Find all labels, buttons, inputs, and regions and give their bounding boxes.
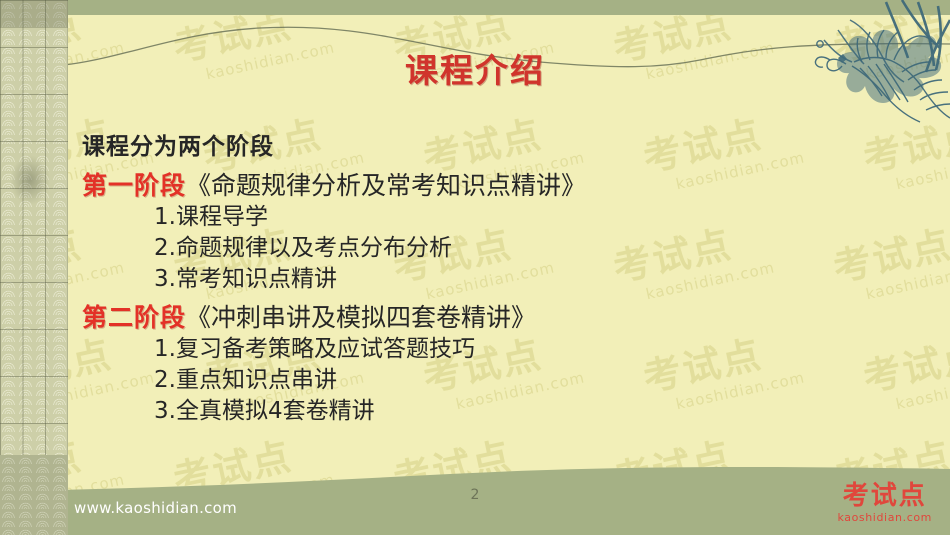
page-title: 课程介绍: [0, 44, 950, 92]
body-content: 课程分为两个阶段 第一阶段《命题规律分析及常考知识点精讲》 1.课程导学 2.命…: [82, 136, 882, 431]
kaoshidian-logo: 考试点 kaoshidian.com: [837, 483, 932, 523]
stage-1-title: 《命题规律分析及常考知识点精讲》: [186, 171, 586, 200]
stage-2-line: 第二阶段《冲刺串讲及模拟四套卷精讲》: [82, 305, 882, 330]
stage-1-item-3: 3.常考知识点精讲: [154, 268, 882, 291]
watermark-domain-text: kaoshidian.com: [894, 368, 950, 413]
stage-2-item-1: 1.复习备考策略及应试答题技巧: [154, 338, 882, 361]
stage-1-line: 第一阶段《命题规律分析及常考知识点精讲》: [82, 173, 882, 198]
pattern-smudge: [10, 155, 50, 205]
page-number: 2: [0, 487, 950, 503]
logo-domain-text: kaoshidian.com: [837, 512, 932, 523]
stage-2-item-3: 3.全真模拟4套卷精讲: [154, 400, 882, 423]
watermark-domain-text: kaoshidian.com: [894, 148, 950, 193]
logo-chinese-text: 考试点: [837, 483, 932, 509]
stage-1-item-1: 1.课程导学: [154, 206, 882, 229]
stage-1-label: 第一阶段: [82, 171, 186, 200]
slide-canvas: 考试点kaoshidian.com考试点kaoshidian.com考试点kao…: [0, 0, 950, 535]
stage-2-title: 《冲刺串讲及模拟四套卷精讲》: [186, 303, 536, 332]
pattern-shade-top: [0, 0, 68, 28]
stage-2-label: 第二阶段: [82, 303, 186, 332]
stage-2-item-2: 2.重点知识点串讲: [154, 369, 882, 392]
stage-1-item-2: 2.命题规律以及考点分布分析: [154, 237, 882, 260]
body-heading: 课程分为两个阶段: [82, 136, 882, 159]
